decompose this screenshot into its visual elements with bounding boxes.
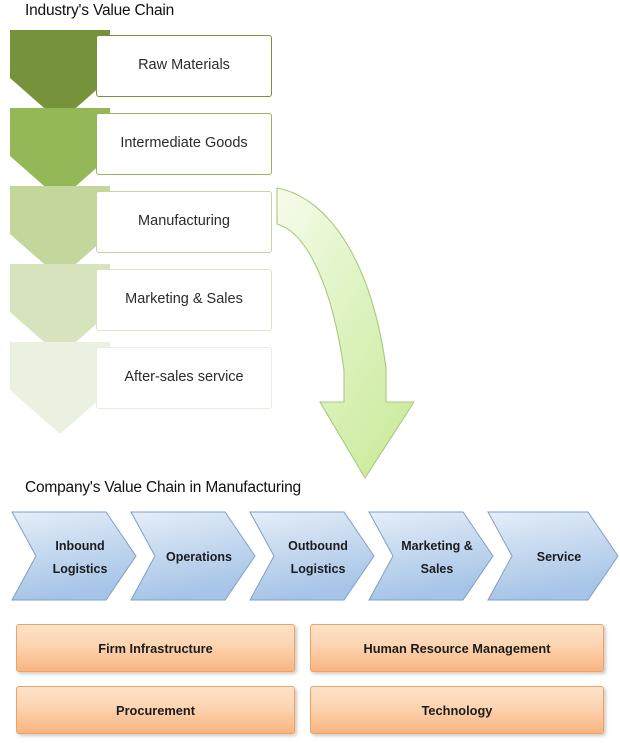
- primary-activity-chevron[interactable]: Marketing &Sales: [369, 512, 493, 604]
- primary-activity-chevron[interactable]: OutboundLogistics: [250, 512, 374, 604]
- industry-stage-label[interactable]: Manufacturing: [96, 191, 272, 253]
- support-activity-box[interactable]: Firm Infrastructure: [16, 624, 295, 672]
- right-chevron-icon: [250, 512, 374, 600]
- right-chevron-icon: [488, 512, 618, 600]
- industry-value-chain-title: Industry's Value Chain: [25, 2, 174, 20]
- industry-stage-label[interactable]: After-sales service: [96, 347, 272, 409]
- industry-stage-label[interactable]: Marketing & Sales: [96, 269, 272, 331]
- support-activities-group: Firm InfrastructureHuman Resource Manage…: [0, 620, 620, 743]
- right-chevron-icon: [12, 512, 136, 600]
- primary-activities-group: InboundLogisticsOperationsOutboundLogist…: [0, 512, 620, 607]
- right-chevron-icon: [131, 512, 255, 600]
- support-activity-box[interactable]: Human Resource Management: [310, 624, 604, 672]
- down-chevron-icon: [10, 342, 110, 434]
- industry-stage-row[interactable]: After-sales service: [0, 342, 300, 434]
- primary-activity-chevron[interactable]: Operations: [131, 512, 255, 604]
- primary-activity-chevron[interactable]: Service: [488, 512, 618, 604]
- industry-stage-label[interactable]: Intermediate Goods: [96, 113, 272, 175]
- industry-stage-label[interactable]: Raw Materials: [96, 35, 272, 97]
- diagram-canvas: Industry's Value Chain Raw MaterialsInte…: [0, 0, 620, 743]
- company-value-chain-title: Company's Value Chain in Manufacturing: [25, 479, 301, 497]
- curved-down-arrow-icon: [268, 180, 428, 490]
- right-chevron-icon: [369, 512, 493, 600]
- primary-activity-chevron[interactable]: InboundLogistics: [12, 512, 136, 604]
- support-activity-box[interactable]: Procurement: [16, 686, 295, 734]
- industry-value-chain-group: Raw MaterialsIntermediate GoodsManufactu…: [0, 30, 300, 420]
- support-activity-box[interactable]: Technology: [310, 686, 604, 734]
